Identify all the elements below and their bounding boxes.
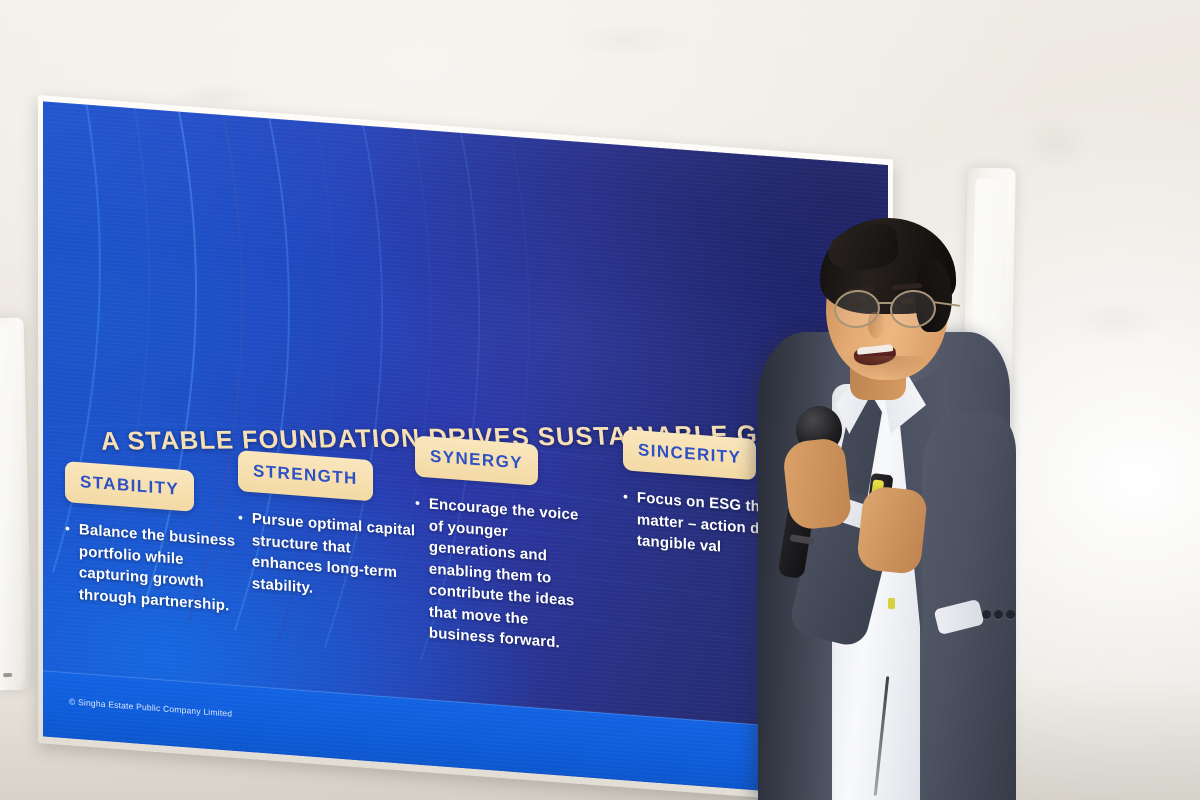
lens-right [889,288,938,329]
bullet-item: • Balance the business portfolio while c… [65,518,245,618]
glasses-bridge [878,302,892,304]
bullet-dot-icon: • [65,518,70,604]
bullet-item: • Encourage the voice of younger generat… [415,492,595,656]
hand-holding-clicker [856,485,928,575]
speaker-led [4,673,13,677]
bullet-text: Balance the business portfolio while cap… [79,519,245,618]
bullet-text: Encourage the voice of younger generatio… [429,494,595,657]
bullet-dot-icon: • [238,507,243,593]
presenter [740,206,1040,800]
bullet-item: • Pursue optimal capital structure that … [238,507,418,607]
slide-column-strength: STRENGTH • Pursue optimal capital struct… [238,450,418,607]
pill-strength: STRENGTH [238,450,373,501]
slide-column-stability: STABILITY • Balance the business portfol… [65,461,245,618]
chin-shadow [844,356,928,382]
bullet-text: Pursue optimal capital structure that en… [252,508,418,607]
lens-left [832,288,882,331]
bullet-dot-icon: • [623,486,628,551]
pill-synergy: SYNERGY [415,435,538,485]
glasses-temple [934,301,960,307]
slide-column-synergy: SYNERGY • Encourage the voice of younger… [415,435,595,656]
footer-copyright: © Singha Estate Public Company Limited [69,696,232,718]
screenshot-root: A STABLE FOUNDATION DRIVES SUSTAINABLE G… [0,0,1200,800]
pill-stability: STABILITY [65,461,194,512]
hand-holding-microphone [782,437,853,531]
bullet-dot-icon: • [415,492,420,643]
pill-sincerity: SINCERITY [623,429,756,480]
eyeglasses-icon [832,290,952,330]
lapel-microphone [888,598,895,609]
